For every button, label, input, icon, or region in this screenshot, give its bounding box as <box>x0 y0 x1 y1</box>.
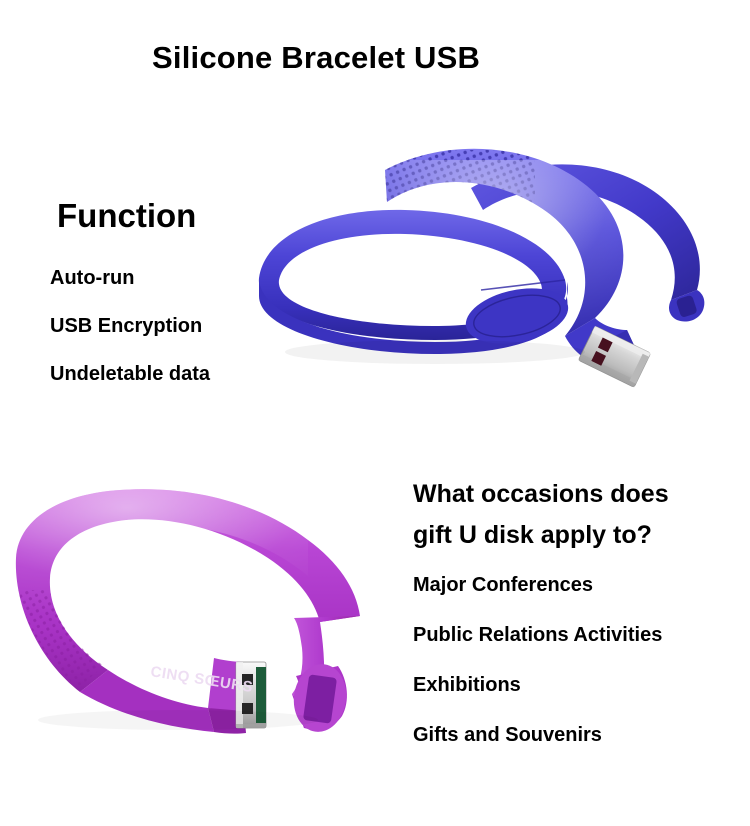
product-marketing-image: Silicone Bracelet USB <box>0 0 750 826</box>
list-item: Auto-run <box>50 268 350 288</box>
function-list: Auto-run USB Encryption Undeletable data <box>50 268 350 412</box>
page-title: Silicone Bracelet USB <box>152 40 480 76</box>
list-item: USB Encryption <box>50 316 350 336</box>
list-item: Gifts and Souvenirs <box>413 725 748 745</box>
occasion-heading-line2: gift U disk apply to? <box>413 515 743 556</box>
occasion-heading-line1: What occasions does <box>413 474 743 515</box>
list-item: Exhibitions <box>413 675 748 695</box>
function-heading: Function <box>57 197 196 235</box>
occasion-heading: What occasions does gift U disk apply to… <box>413 474 743 556</box>
list-item: Public Relations Activities <box>413 625 748 645</box>
list-item: Major Conferences <box>413 575 748 595</box>
purple-bracelet-photo: CINQ SŒURS <box>8 480 408 740</box>
list-item: Undeletable data <box>50 364 350 384</box>
occasion-list: Major Conferences Public Relations Activ… <box>413 575 748 775</box>
